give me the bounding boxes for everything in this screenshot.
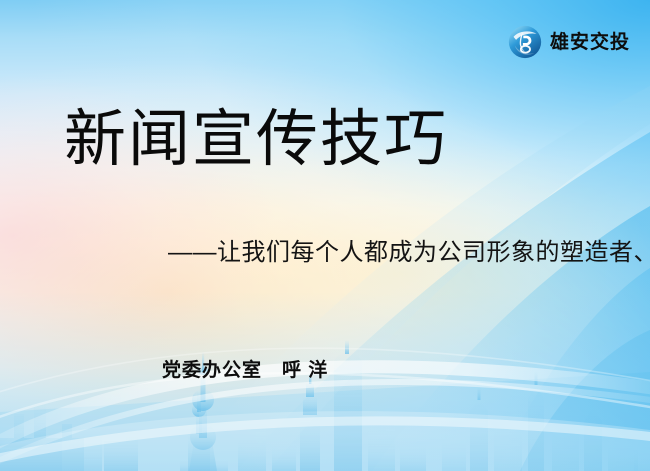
page-title: 新闻宣传技巧 [64,106,448,175]
presenter-byline: 党委办公室 呼 洋 [162,355,328,382]
page-subtitle: ——让我们每个人都成为公司形象的塑造者、传播者 [168,239,650,268]
company-logo[interactable]: 雄安交投 [508,25,630,59]
title-slide: 雄安交投 新闻宣传技巧 ——让我们每个人都成为公司形象的塑造者、传播者 党委办公… [0,0,650,471]
xiongan-jiaotou-emblem-icon [508,25,542,59]
background-artwork [0,0,650,471]
company-wordmark: 雄安交投 [550,33,630,52]
